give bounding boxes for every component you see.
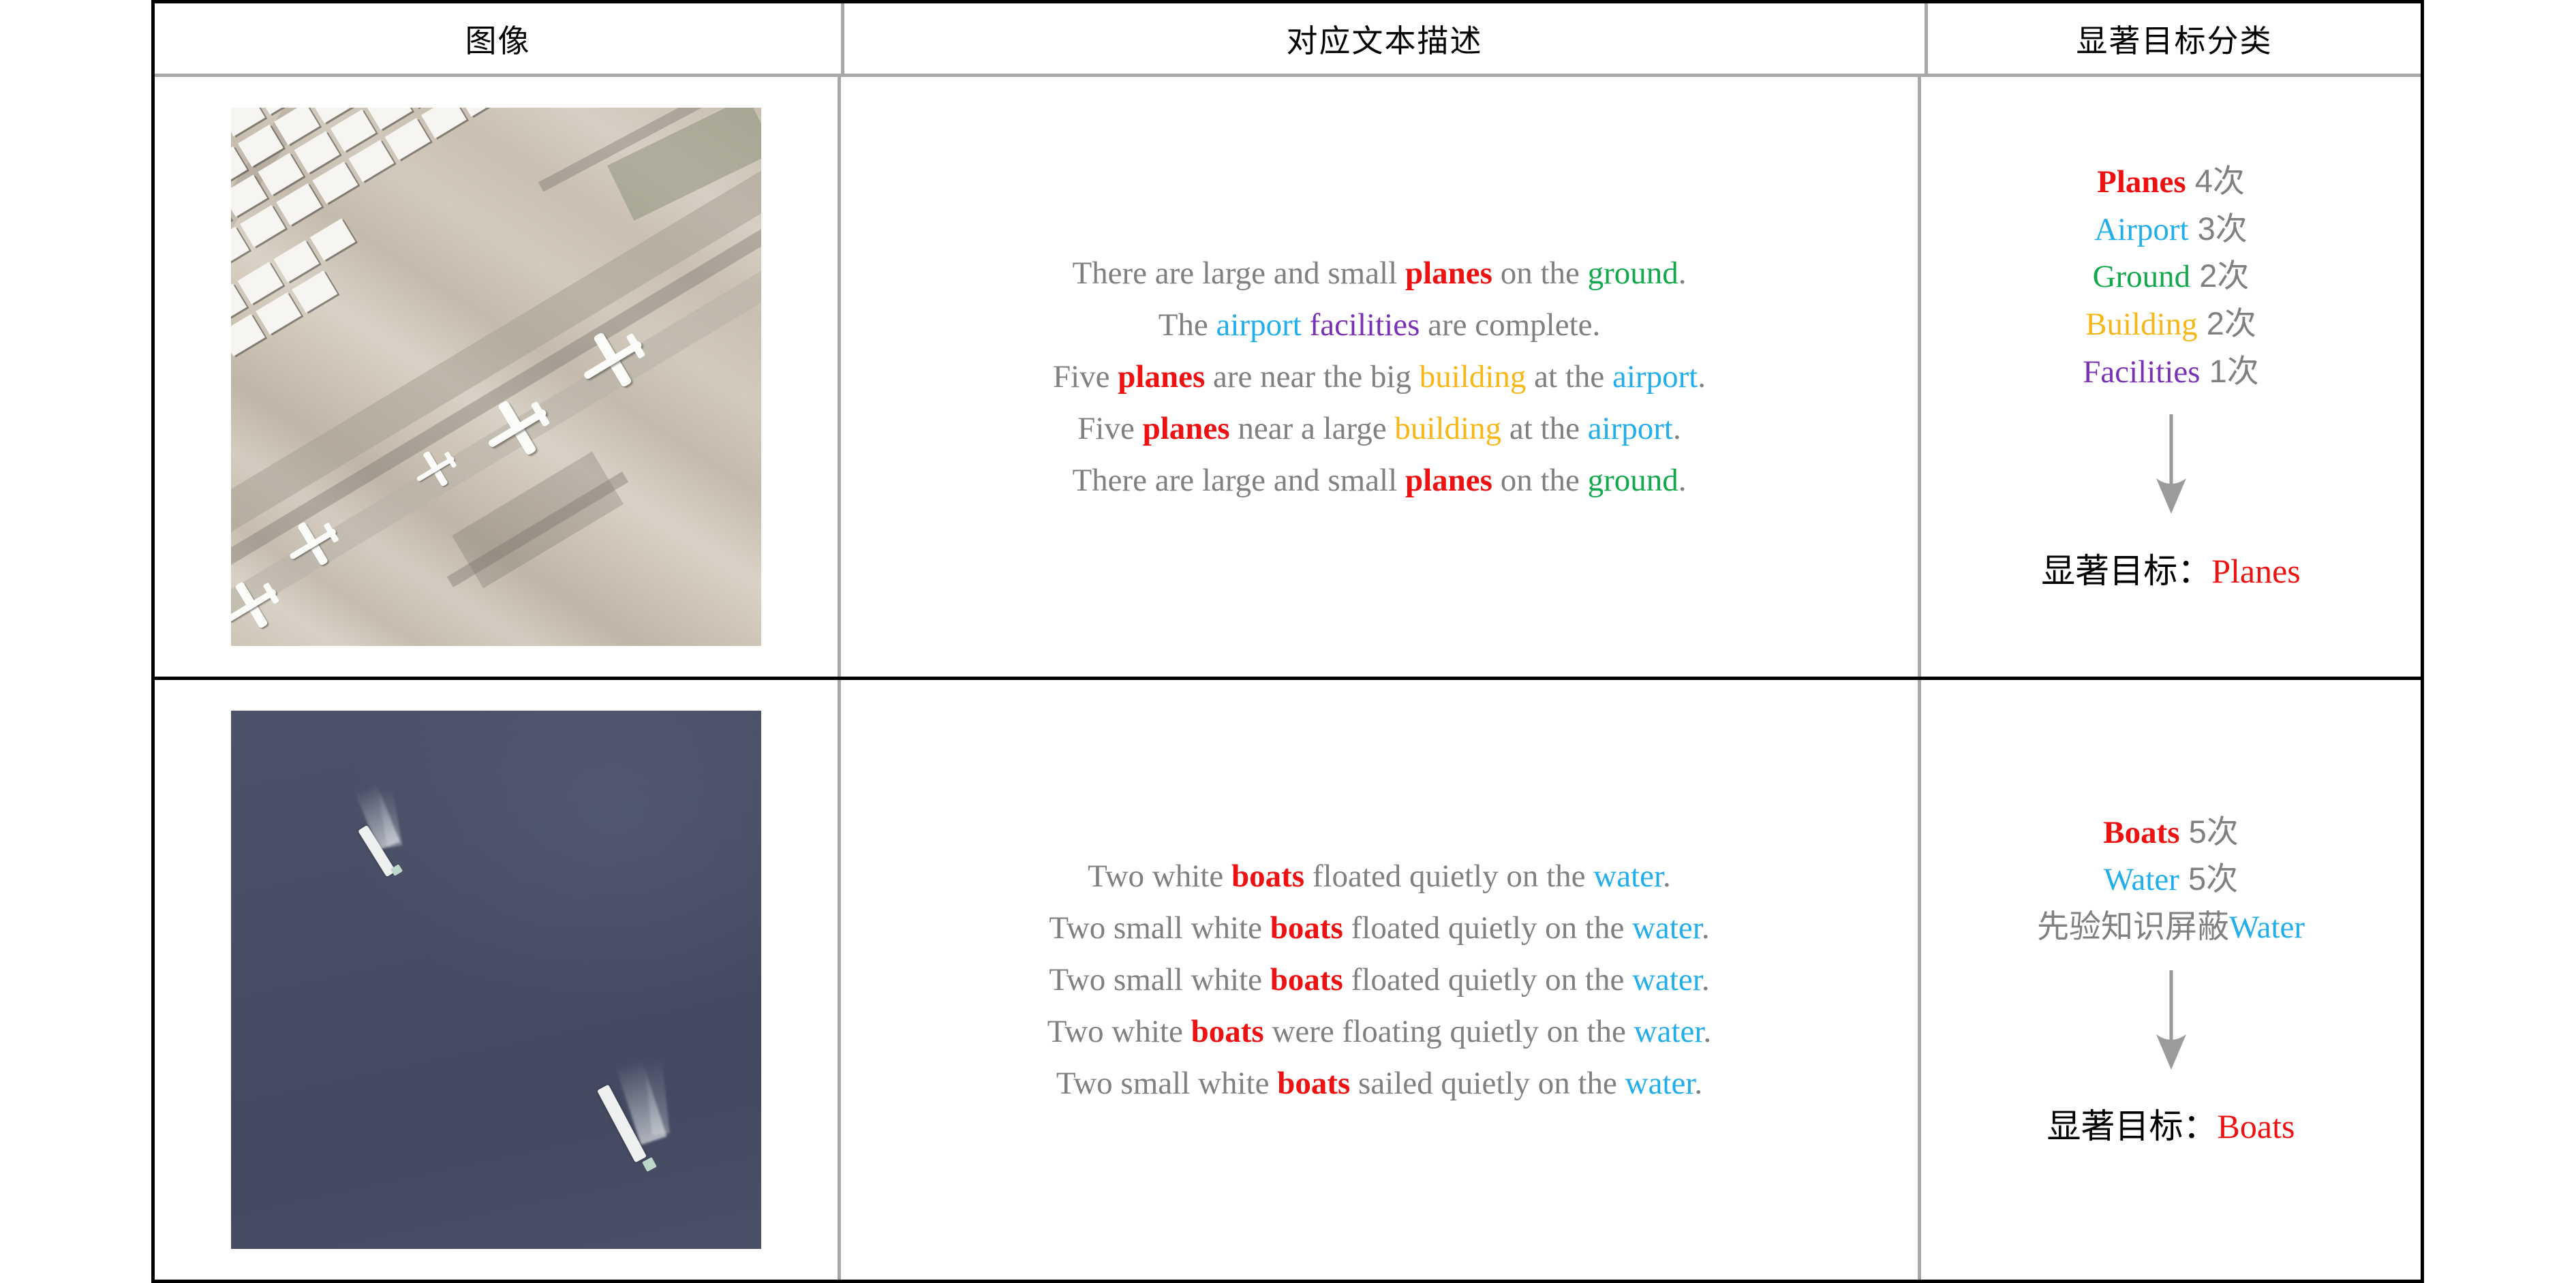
caption-line: The airport facilities are complete. (1053, 299, 1706, 351)
table-row: Two white boats floated quietly on the w… (155, 680, 2421, 1280)
conclusion-label: 显著目标： (2047, 1107, 2218, 1145)
conclusion-text: 显著目标：Boats (2047, 1102, 2295, 1151)
caption-text: Two white (1047, 1014, 1191, 1049)
conclusion-text: 显著目标：Planes (2041, 546, 2301, 596)
image-cell-ocean (155, 680, 841, 1280)
tally-row: Facilities 1次 (2083, 348, 2259, 396)
tally-word: Building (2085, 307, 2198, 342)
caption-keyword-blue: water (1593, 859, 1663, 894)
caption-text: on the (1492, 256, 1588, 291)
tally-count: 2次 (2190, 258, 2249, 294)
boat-bow (642, 1157, 657, 1172)
prior-knowledge-mask-note: 先验知识屏蔽Water (2037, 903, 2305, 951)
caption-keyword-yellow: building (1394, 411, 1501, 446)
caption-text: The (1159, 307, 1216, 343)
description-cell-ocean: Two white boats floated quietly on the w… (841, 680, 1921, 1280)
caption-text: . (1678, 256, 1687, 291)
caption-keyword-red: boats (1277, 1066, 1350, 1101)
down-arrow-icon (2153, 969, 2190, 1085)
tally-row: Ground 2次 (2083, 253, 2259, 300)
tally-count: 1次 (2201, 353, 2259, 389)
tally-list: Boats 5次Water 5次先验知识屏蔽Water (2037, 809, 2305, 951)
tally-count: 2次 (2198, 305, 2256, 341)
classification-cell-airport: Planes 4次Airport 3次Ground 2次Building 2次F… (1921, 77, 2421, 677)
caption-text: at the (1501, 411, 1588, 446)
tally-row: Airport 3次 (2083, 206, 2259, 253)
caption-keyword-blue: water (1634, 1014, 1704, 1049)
caption-text: . (1702, 910, 1710, 946)
caption-keyword-red: planes (1405, 256, 1492, 291)
caption-line: There are large and small planes on the … (1053, 247, 1706, 299)
caption-text: . (1703, 1014, 1711, 1049)
caption-text: There are large and small (1072, 463, 1405, 498)
caption-keyword-blue: water (1625, 1066, 1695, 1101)
header-cell-image: 图像 (155, 3, 844, 74)
caption-text: . (1663, 859, 1671, 894)
tally-row: Boats 5次 (2037, 809, 2305, 856)
caption-text: Two small white (1049, 962, 1270, 998)
caption-keyword-blue: airport (1216, 307, 1302, 343)
caption-text: Two small white (1049, 910, 1270, 946)
caption-text: Two small white (1056, 1066, 1277, 1101)
caption-text: floated quietly on the (1343, 910, 1632, 946)
mask-word: Water (2229, 910, 2305, 945)
caption-text: near a large (1230, 411, 1395, 446)
tally-word: Water (2104, 862, 2179, 897)
header-label-text-description: 对应文本描述 (1287, 16, 1483, 61)
description-cell-airport: There are large and small planes on the … (841, 77, 1921, 677)
caption-text: . (1673, 411, 1681, 446)
down-arrow-icon (2153, 413, 2190, 529)
caption-keyword-yellow: building (1420, 359, 1527, 395)
caption-keyword-blue: airport (1612, 359, 1698, 395)
caption-text: . (1694, 1066, 1702, 1101)
caption-keyword-blue: airport (1588, 411, 1673, 446)
caption-line: Two small white boats floated quietly on… (1047, 902, 1711, 954)
tally-row: Planes 4次 (2083, 158, 2259, 206)
caption-text: at the (1526, 359, 1612, 395)
tally-list: Planes 4次Airport 3次Ground 2次Building 2次F… (2083, 158, 2259, 395)
table-row: There are large and small planes on the … (155, 77, 2421, 680)
caption-line: Two white boats were floating quietly on… (1047, 1006, 1711, 1057)
tally-row: Building 2次 (2083, 300, 2259, 348)
caption-text: . (1698, 359, 1706, 395)
caption-line: Two white boats floated quietly on the w… (1047, 850, 1711, 902)
tally-word: Airport (2094, 212, 2188, 247)
tally-word: Boats (2103, 815, 2179, 850)
tally-word: Facilities (2083, 354, 2200, 390)
caption-text: on the (1492, 463, 1588, 498)
caption-text: . (1702, 962, 1710, 998)
table-header-row: 图像 对应文本描述 显著目标分类 (155, 3, 2421, 77)
caption-line: Five planes are near the big building at… (1053, 351, 1706, 403)
tally-count: 5次 (2180, 814, 2239, 850)
caption-text (1302, 307, 1310, 343)
caption-text: . (1678, 463, 1687, 498)
caption-keyword-red: boats (1270, 962, 1343, 998)
caption-text: are complete. (1420, 307, 1600, 343)
caption-line: Two small white boats sailed quietly on … (1047, 1057, 1711, 1109)
caption-text: Five (1053, 359, 1118, 395)
caption-text: were floating quietly on the (1264, 1014, 1634, 1049)
caption-keyword-green: ground (1588, 463, 1678, 498)
header-label-classification: 显著目标分类 (2076, 16, 2273, 61)
tally-count: 5次 (2179, 861, 2238, 897)
caption-text: are near the big (1205, 359, 1419, 395)
caption-keyword-blue: water (1632, 962, 1702, 998)
caption-line: Two small white boats floated quietly on… (1047, 954, 1711, 1006)
caption-text: floated quietly on the (1304, 859, 1593, 894)
caption-keyword-purple: facilities (1310, 307, 1420, 343)
caption-keyword-red: boats (1191, 1014, 1264, 1049)
caption-keyword-red: boats (1270, 910, 1343, 946)
caption-keyword-blue: water (1632, 910, 1702, 946)
caption-text: floated quietly on the (1343, 962, 1632, 998)
caption-keyword-red: planes (1405, 463, 1492, 498)
tally-word: Planes (2097, 164, 2186, 200)
image-cell-airport (155, 77, 841, 677)
conclusion-target: Boats (2218, 1107, 2295, 1145)
conclusion-target: Planes (2211, 552, 2301, 590)
caption-text: Five (1077, 411, 1142, 446)
header-cell-classification: 显著目标分类 (1928, 3, 2421, 74)
boat-icon (347, 786, 429, 881)
caption-keyword-red: planes (1143, 411, 1230, 446)
caption-keyword-red: planes (1118, 359, 1205, 395)
boat-icon (585, 1058, 694, 1188)
tally-count: 4次 (2186, 163, 2245, 199)
conclusion-label: 显著目标： (2041, 552, 2211, 590)
caption-line: Five planes near a large building at the… (1053, 403, 1706, 454)
caption-list: Two white boats floated quietly on the w… (1022, 850, 1737, 1110)
caption-keyword-green: ground (1588, 256, 1678, 291)
classification-cell-ocean: Boats 5次Water 5次先验知识屏蔽Water 显著目标：Boats (1921, 680, 2421, 1280)
caption-text: There are large and small (1072, 256, 1405, 291)
comparison-table: 图像 对应文本描述 显著目标分类 (151, 0, 2424, 1283)
caption-text: sailed quietly on the (1350, 1066, 1625, 1101)
header-label-image: 图像 (465, 16, 531, 61)
airport-satellite-image (231, 108, 761, 646)
ocean-satellite-image (231, 711, 761, 1249)
mask-prefix: 先验知识屏蔽 (2037, 908, 2229, 944)
tally-row: Water 5次 (2037, 856, 2305, 903)
caption-line: There are large and small planes on the … (1053, 454, 1706, 506)
tally-word: Ground (2093, 259, 2191, 294)
caption-list: There are large and small planes on the … (1027, 247, 1732, 507)
tally-count: 3次 (2189, 211, 2248, 247)
header-cell-text-description: 对应文本描述 (844, 3, 1928, 74)
caption-text: Two white (1088, 859, 1231, 894)
page-root: 图像 对应文本描述 显著目标分类 (0, 0, 2576, 1283)
caption-keyword-red: boats (1231, 859, 1304, 894)
